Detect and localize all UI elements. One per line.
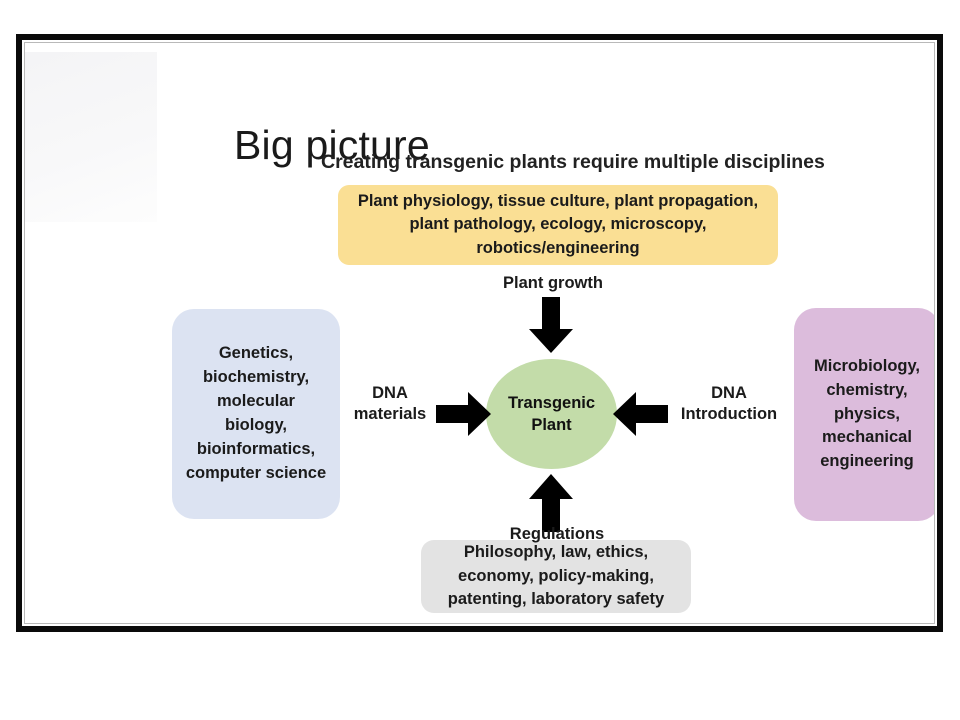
arrow-down-icon — [529, 297, 573, 353]
edge-label-dna-introduction: DNA Introduction — [669, 383, 789, 426]
center-node-transgenic-plant: Transgenic Plant — [486, 359, 617, 469]
discipline-box-plant-growth: Plant physiology, tissue culture, plant … — [338, 185, 778, 265]
background-placeholder-panel — [25, 52, 157, 222]
discipline-box-dna-materials: Genetics, biochemistry, molecular biolog… — [172, 309, 340, 519]
discipline-box-regulations: Philosophy, law, ethics, economy, policy… — [421, 540, 691, 613]
discipline-box-dna-introduction: Microbiology, chemistry, physics, mechan… — [794, 308, 934, 521]
arrow-right-icon — [436, 392, 491, 436]
edge-label-dna-materials: DNA materials — [343, 383, 437, 426]
slide-subtitle: Creating transgenic plants require multi… — [321, 151, 825, 174]
discipline-box-right-text: Microbiology, chemistry, physics, mechan… — [814, 355, 920, 475]
center-node-label: Transgenic Plant — [508, 392, 595, 437]
discipline-box-bottom-text: Philosophy, law, ethics, economy, policy… — [448, 541, 664, 611]
discipline-box-left-text: Genetics, biochemistry, molecular biolog… — [186, 342, 326, 486]
slide-canvas: Big picture Creating transgenic plants r… — [25, 43, 934, 623]
edge-label-regulations: Regulations — [487, 524, 627, 545]
arrow-left-icon — [613, 392, 668, 436]
edge-label-plant-growth: Plant growth — [483, 273, 623, 294]
discipline-box-top-text: Plant physiology, tissue culture, plant … — [358, 190, 758, 260]
slide-frame: Big picture Creating transgenic plants r… — [16, 34, 943, 632]
